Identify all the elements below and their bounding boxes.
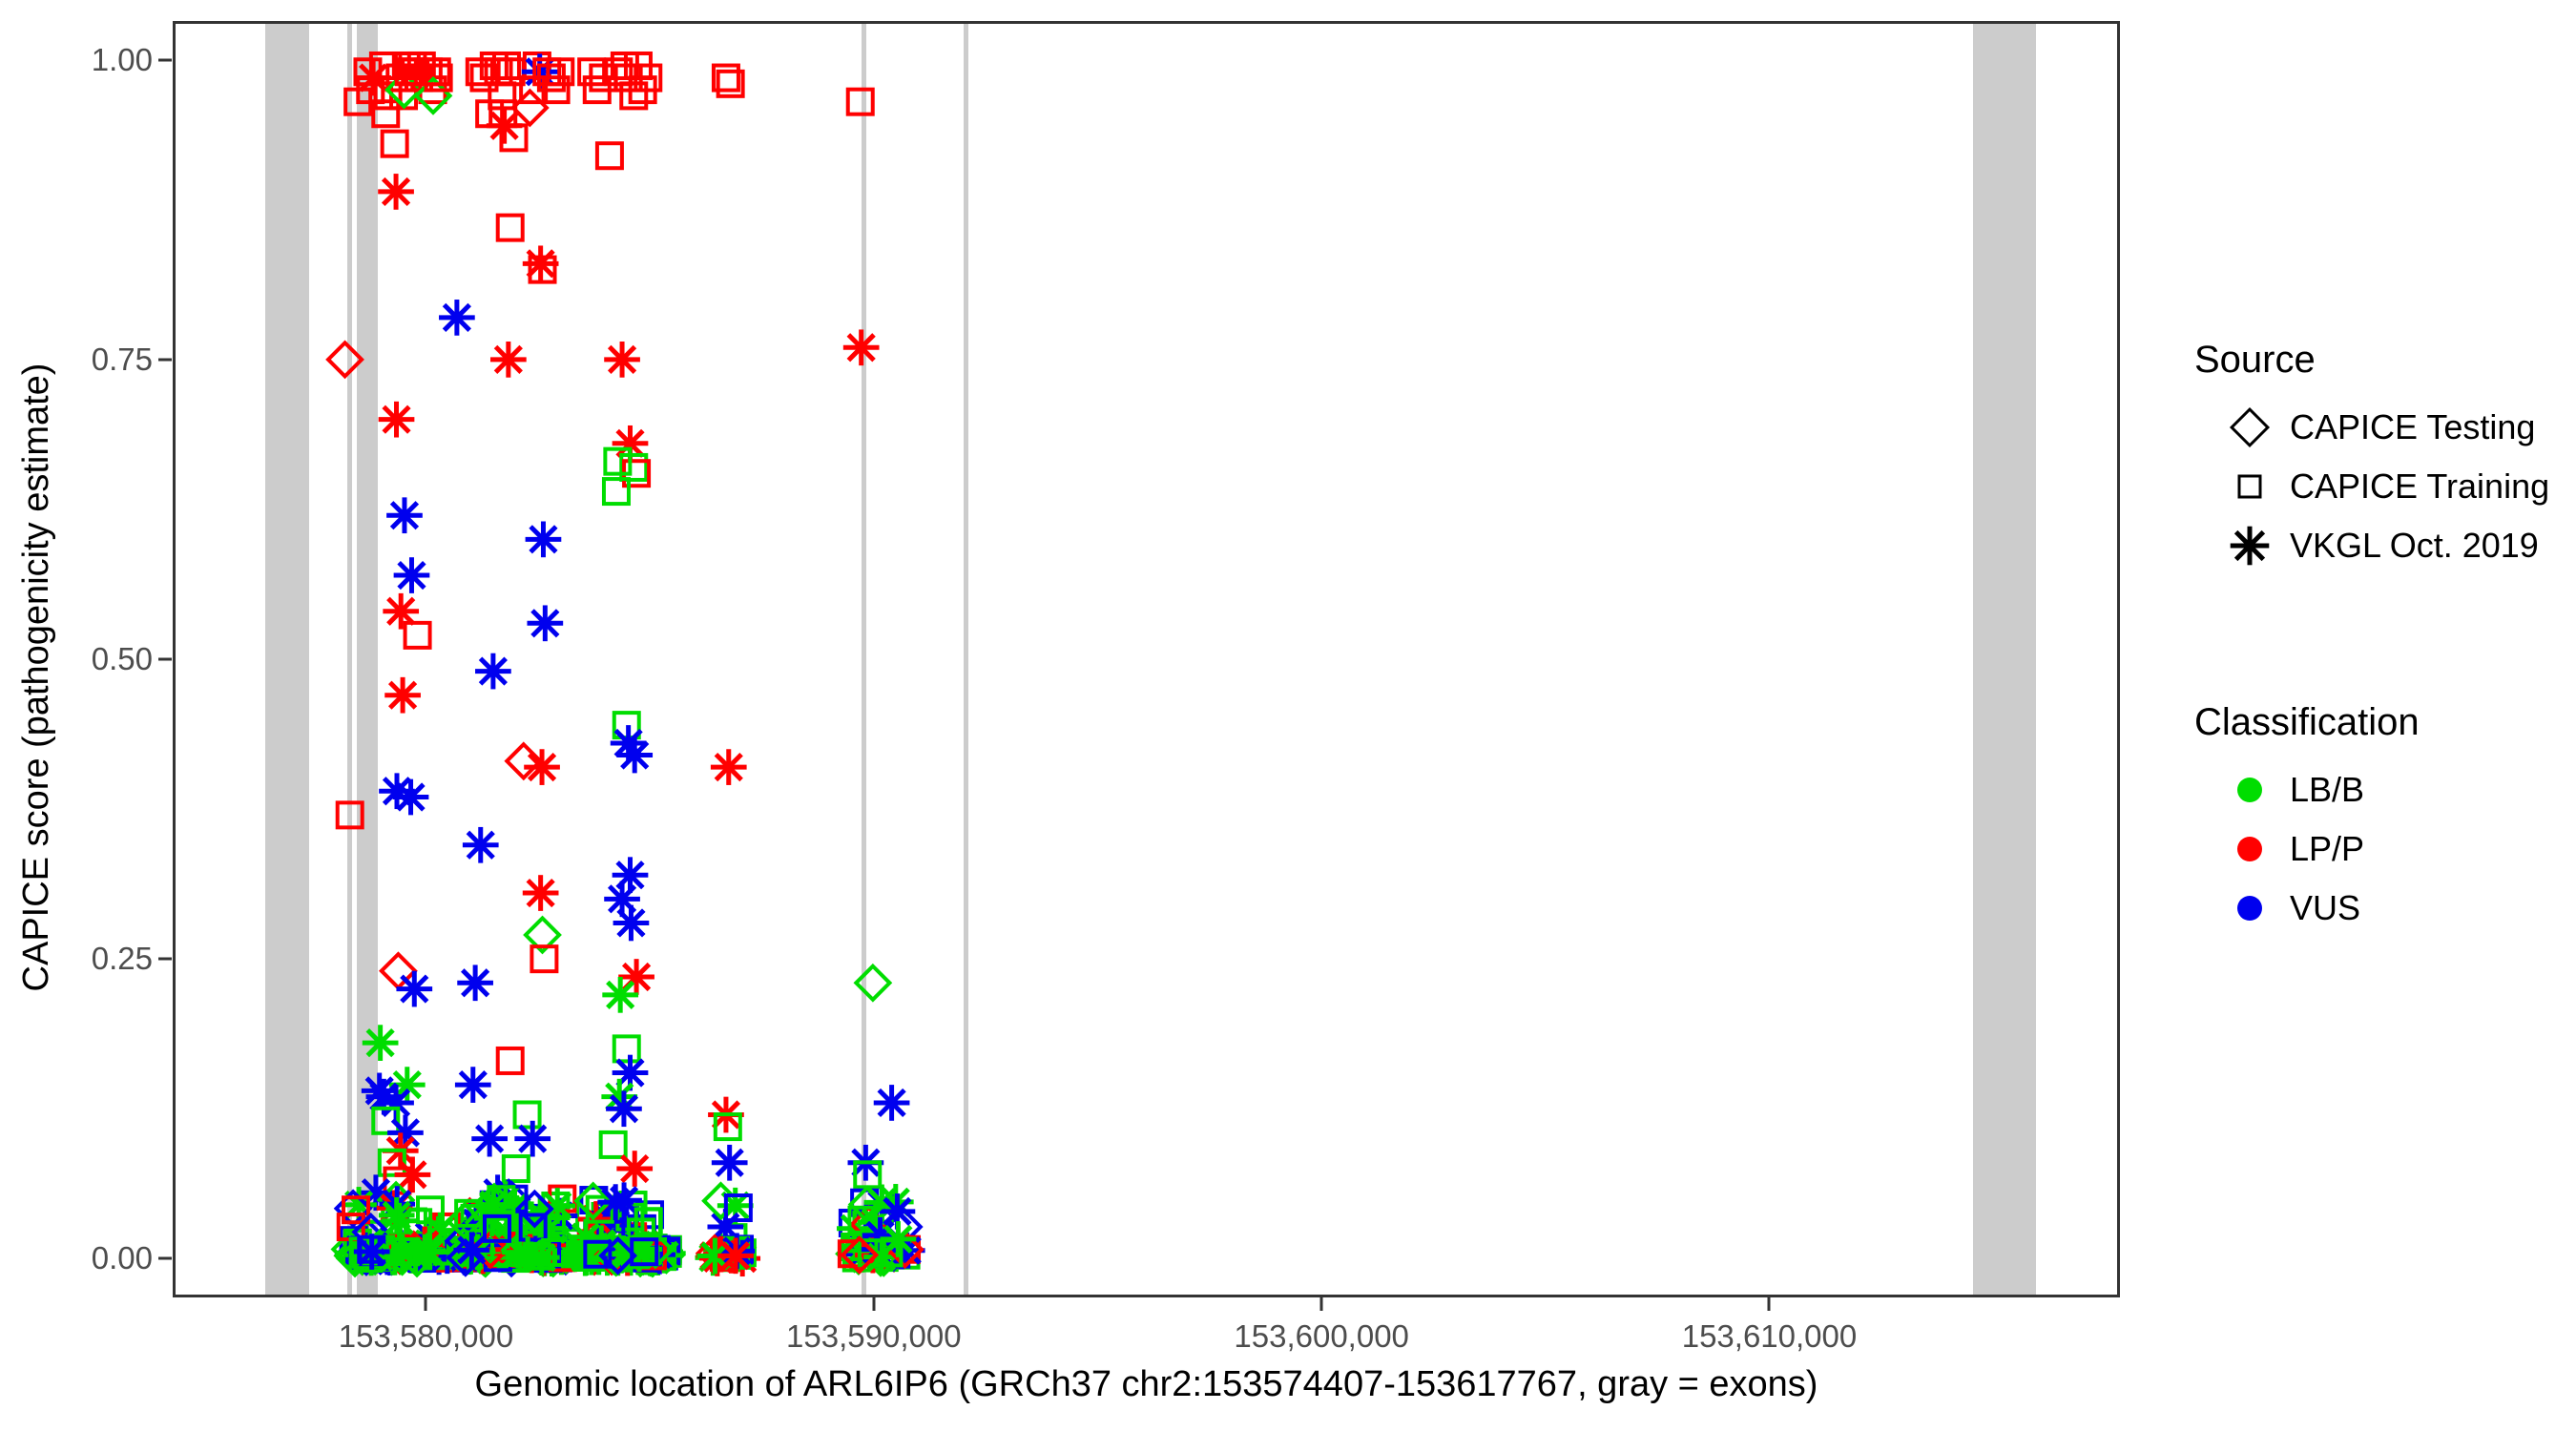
data-point	[354, 1234, 390, 1270]
data-point	[711, 749, 747, 785]
data-point	[602, 977, 638, 1013]
legend-title-classification: Classification	[2194, 701, 2420, 744]
legend-item-source-capice-testing[interactable]: CAPICE Testing	[2223, 401, 2535, 454]
legend-item-classification-lp-p[interactable]: LP/P	[2223, 822, 2364, 876]
legend-label: LP/P	[2290, 829, 2364, 869]
data-point	[471, 1121, 508, 1157]
y-axis-tick-mark	[158, 58, 172, 61]
x-axis-tick-mark	[872, 1297, 875, 1311]
x-axis-tick-mark	[1320, 1297, 1323, 1311]
y-axis-tick-label: 1.00	[29, 42, 153, 78]
data-point	[394, 557, 430, 593]
legend-label: VKGL Oct. 2019	[2290, 526, 2539, 566]
data-point	[393, 779, 429, 816]
color-dot-icon	[2223, 881, 2276, 935]
data-point	[396, 971, 432, 1007]
data-point	[601, 1132, 626, 1157]
data-point	[524, 749, 560, 785]
data-point	[383, 132, 407, 156]
legend-title-source: Source	[2194, 339, 2316, 382]
data-point	[463, 827, 499, 863]
legend-item-source-capice-training[interactable]: CAPICE Training	[2223, 460, 2549, 513]
plot-panel	[173, 21, 2120, 1297]
data-point	[386, 497, 423, 533]
data-point	[616, 737, 653, 774]
asterisk-icon	[2223, 519, 2276, 572]
data-point	[490, 342, 527, 378]
y-axis-tick-label: 0.50	[29, 641, 153, 677]
legend-item-classification-lb-b[interactable]: LB/B	[2223, 763, 2364, 817]
data-point	[606, 1090, 642, 1127]
data-point	[881, 1221, 917, 1257]
color-dot-icon	[2223, 763, 2276, 817]
y-axis-tick-mark	[158, 358, 172, 361]
data-point	[498, 1048, 523, 1073]
y-axis-tick-label: 0.75	[29, 342, 153, 378]
data-point	[405, 623, 430, 648]
x-axis-tick-mark	[1768, 1297, 1771, 1311]
data-point	[338, 802, 363, 827]
y-axis-tick-mark	[158, 658, 172, 661]
y-axis-tick-mark	[158, 1257, 172, 1260]
legend-label: VUS	[2290, 888, 2360, 928]
data-point	[597, 1184, 634, 1220]
data-point	[410, 1233, 447, 1269]
data-point	[856, 966, 889, 1000]
legend-label: CAPICE Testing	[2290, 407, 2535, 447]
legend-item-classification-vus[interactable]: VUS	[2223, 881, 2360, 935]
square-open-icon	[2223, 460, 2276, 513]
legend-label: LB/B	[2290, 770, 2364, 810]
data-point	[439, 300, 475, 336]
y-axis-tick-mark	[158, 958, 172, 961]
data-point	[504, 1156, 529, 1181]
y-axis-tick-label: 0.25	[29, 941, 153, 977]
data-point	[455, 1067, 491, 1103]
data-point	[874, 1085, 910, 1121]
data-point	[378, 1085, 414, 1121]
x-axis-tick-label: 153,580,000	[339, 1318, 514, 1355]
data-point	[614, 1036, 639, 1061]
data-point	[616, 1151, 653, 1187]
data-point	[475, 653, 511, 690]
data-point	[382, 1203, 418, 1239]
color-dot-icon	[2223, 822, 2276, 876]
data-point	[613, 905, 650, 942]
y-axis-title: CAPICE score (pathogenicity estimate)	[8, 29, 65, 1326]
data-point	[712, 1145, 748, 1181]
x-axis-tick-label: 153,590,000	[786, 1318, 962, 1355]
legend-item-source-vkgl-oct-2019[interactable]: VKGL Oct. 2019	[2223, 519, 2539, 572]
diamond-open-icon	[2223, 401, 2276, 454]
capice-scatter-figure: CAPICE score (pathogenicity estimate) 0.…	[0, 0, 2576, 1431]
legend-label: CAPICE Training	[2290, 467, 2549, 507]
x-axis-title: Genomic location of ARL6IP6 (GRCh37 chr2…	[173, 1364, 2120, 1405]
data-point	[848, 90, 873, 114]
data-point	[843, 329, 880, 365]
data-point	[378, 174, 414, 210]
data-point	[604, 342, 640, 378]
x-axis-tick-mark	[425, 1297, 427, 1311]
data-point	[527, 605, 563, 641]
data-points-layer	[176, 24, 2117, 1295]
data-point	[384, 677, 421, 714]
data-point	[457, 964, 493, 1001]
data-point	[523, 875, 559, 911]
data-point	[363, 1025, 399, 1061]
data-point	[379, 402, 415, 438]
x-axis-tick-label: 153,610,000	[1682, 1318, 1858, 1355]
data-point	[498, 216, 523, 240]
data-point	[717, 1237, 754, 1274]
data-point	[515, 1103, 540, 1128]
data-point	[328, 342, 362, 376]
data-point	[597, 143, 622, 168]
data-point	[526, 521, 562, 557]
y-axis-tick-label: 0.00	[29, 1240, 153, 1276]
x-axis-tick-label: 153,600,000	[1234, 1318, 1409, 1355]
data-point	[514, 1121, 551, 1157]
